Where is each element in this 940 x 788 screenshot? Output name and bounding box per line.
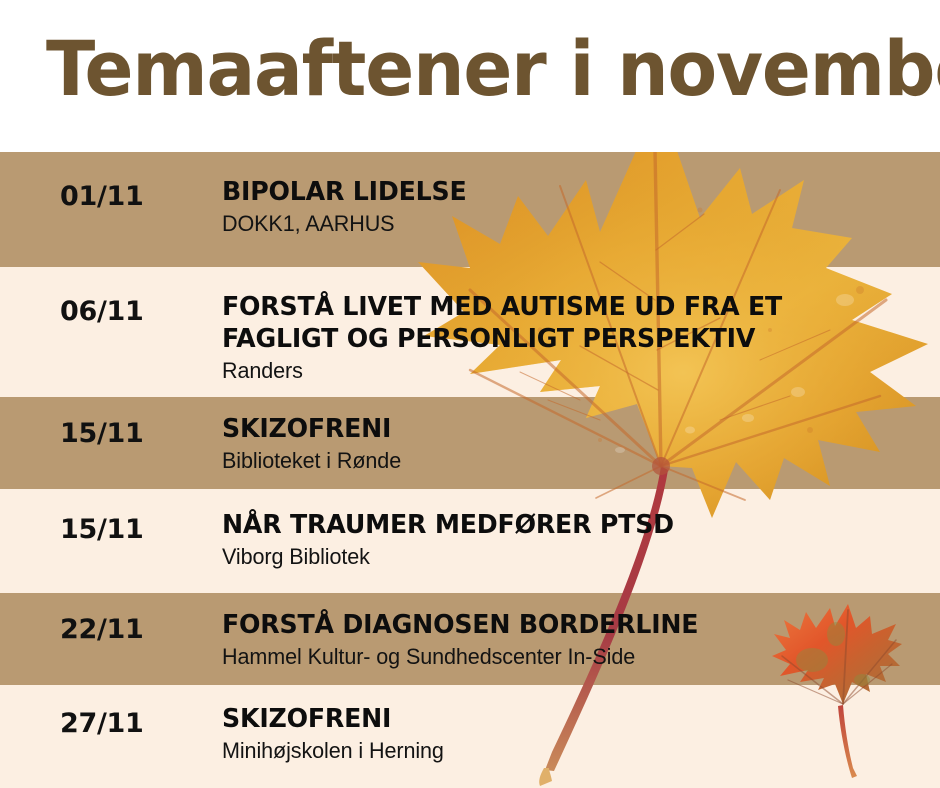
event-date: 01/11: [60, 182, 210, 212]
event-body: FORSTÅ DIAGNOSEN BORDERLINE Hammel Kultu…: [222, 609, 922, 671]
event-body: FORSTÅ LIVET MED AUTISME UD FRA ET FAGLI…: [222, 291, 922, 385]
poster-header: Temaaftener i november: [0, 0, 940, 152]
poster-canvas: Temaaftener i november 01/11 BIPOLAR LID…: [0, 0, 940, 788]
page-title: Temaaftener i november: [46, 26, 940, 112]
event-location: Biblioteket i Rønde: [222, 447, 908, 475]
event-title: NÅR TRAUMER MEDFØRER PTSD: [222, 509, 901, 541]
event-title: SKIZOFRENI: [222, 413, 901, 445]
event-date: 22/11: [60, 615, 210, 645]
event-body: BIPOLAR LIDELSE DOKK1, AARHUS: [222, 176, 922, 238]
event-title: BIPOLAR LIDELSE: [222, 176, 901, 208]
event-body: NÅR TRAUMER MEDFØRER PTSD Viborg Bibliot…: [222, 509, 922, 571]
event-date: 06/11: [60, 297, 210, 327]
event-date: 27/11: [60, 709, 210, 739]
event-location: Minihøjskolen i Herning: [222, 737, 908, 765]
event-title-line2: FAGLIGT OG PERSONLIGT PERSPEKTIV: [222, 323, 901, 355]
event-location: Randers: [222, 357, 908, 385]
schedule-list: 01/11 BIPOLAR LIDELSE DOKK1, AARHUS 06/1…: [0, 152, 940, 788]
event-location: Hammel Kultur- og Sundhedscenter In-Side: [222, 643, 908, 671]
event-body: SKIZOFRENI Minihøjskolen i Herning: [222, 703, 922, 765]
event-date: 15/11: [60, 515, 210, 545]
event-location: Viborg Bibliotek: [222, 543, 908, 571]
event-location: DOKK1, AARHUS: [222, 210, 908, 238]
event-title: FORSTÅ LIVET MED AUTISME UD FRA ET: [222, 291, 901, 323]
event-date: 15/11: [60, 419, 210, 449]
event-body: SKIZOFRENI Biblioteket i Rønde: [222, 413, 922, 475]
event-title: FORSTÅ DIAGNOSEN BORDERLINE: [222, 609, 901, 641]
event-title: SKIZOFRENI: [222, 703, 901, 735]
